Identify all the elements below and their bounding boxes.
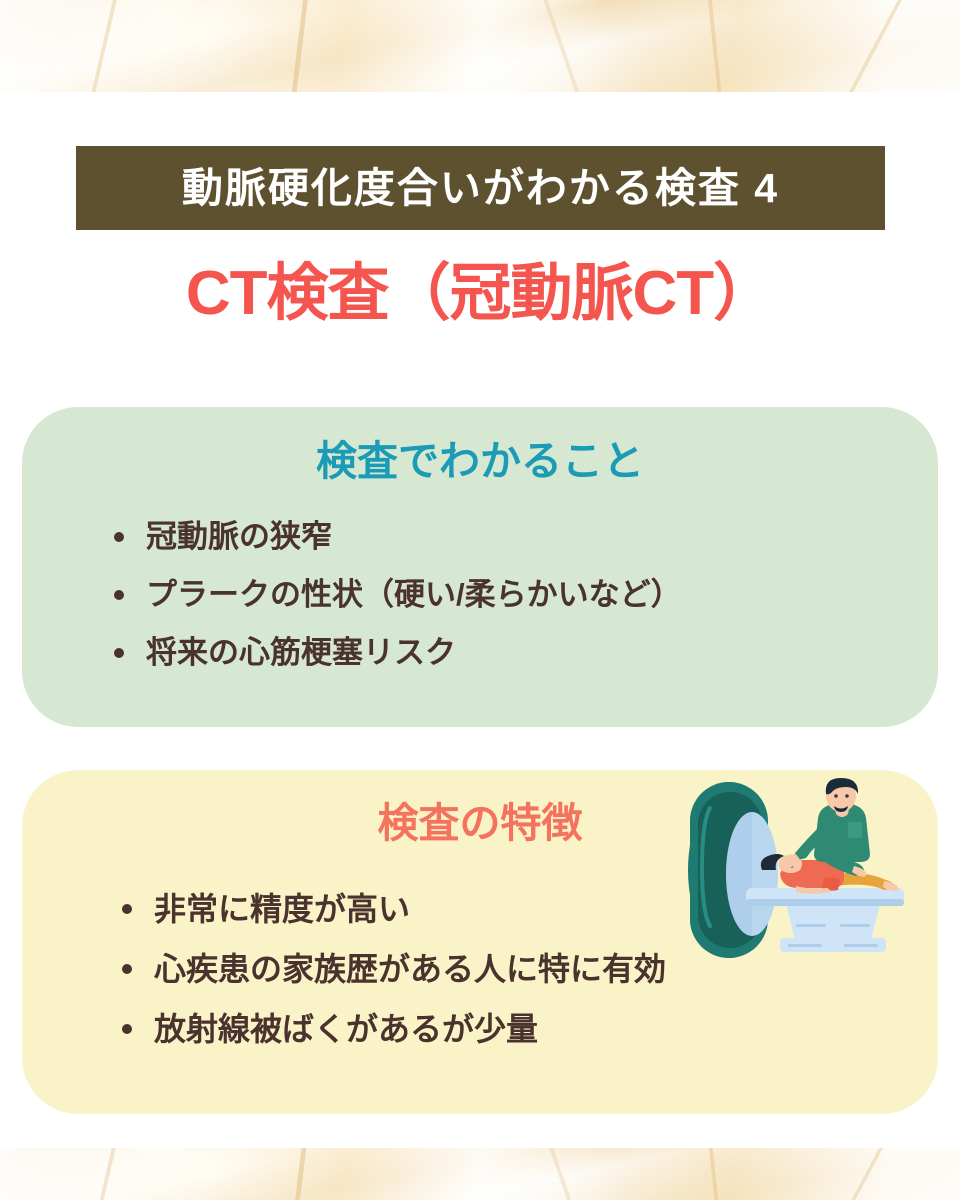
top-texture-band bbox=[0, 0, 960, 92]
page-title: CT検査（冠動脈CT） bbox=[0, 258, 960, 329]
list-item-label: 心疾患の家族歴がある人に特に有効 bbox=[154, 951, 666, 987]
findings-card-heading: 検査でわかること bbox=[22, 407, 938, 482]
bullet-dot-icon bbox=[114, 648, 124, 658]
bullet-dot-icon bbox=[122, 964, 132, 974]
list-item-label: 放射線被ばくがあるが少量 bbox=[154, 1011, 538, 1047]
bottom-texture-veins bbox=[0, 1148, 960, 1200]
technician-eye-left bbox=[834, 794, 838, 798]
ct-scanner-illustration bbox=[684, 778, 908, 962]
list-item-label: 冠動脈の狭窄 bbox=[146, 519, 332, 554]
section-banner: 動脈硬化度合いがわかる検査 4 bbox=[76, 146, 885, 230]
foot-line-2 bbox=[844, 944, 878, 947]
table-slab-shade bbox=[746, 899, 904, 906]
list-item: 冠動脈の狭窄 bbox=[114, 521, 938, 552]
pedestal-line-2 bbox=[840, 924, 870, 927]
findings-list: 冠動脈の狭窄 プラークの性状（硬い/柔らかいなど） 将来の心筋梗塞リスク bbox=[22, 521, 938, 668]
list-item: プラークの性状（硬い/柔らかいなど） bbox=[114, 579, 938, 610]
list-item-label: 将来の心筋梗塞リスク bbox=[146, 635, 456, 670]
list-item-label: 非常に精度が高い bbox=[154, 891, 410, 927]
list-item: 放射線被ばくがあるが少量 bbox=[122, 1013, 938, 1045]
list-item: 将来の心筋梗塞リスク bbox=[114, 637, 938, 668]
bullet-dot-icon bbox=[122, 904, 132, 914]
features-card: 検査の特徴 非常に精度が高い 心疾患の家族歴がある人に特に有効 放射線被ばくがあ… bbox=[22, 770, 938, 1114]
technician-pocket bbox=[848, 822, 862, 838]
foot-line-1 bbox=[788, 944, 822, 947]
bottom-texture-band bbox=[0, 1148, 960, 1200]
pedestal-line-1 bbox=[796, 924, 826, 927]
list-item-label: プラークの性状（硬い/柔らかいなど） bbox=[146, 577, 682, 612]
poster-page: 動脈硬化度合いがわかる検査 4 CT検査（冠動脈CT） 検査でわかること 冠動脈… bbox=[0, 0, 960, 1200]
technician-eye-right bbox=[845, 794, 849, 798]
bullet-dot-icon bbox=[114, 590, 124, 600]
findings-card: 検査でわかること 冠動脈の狭窄 プラークの性状（硬い/柔らかいなど） 将来の心筋… bbox=[22, 407, 938, 727]
top-texture-veins bbox=[0, 0, 960, 92]
banner-label: 動脈硬化度合いがわかる検査 4 bbox=[182, 168, 779, 209]
bullet-dot-icon bbox=[122, 1024, 132, 1034]
bullet-dot-icon bbox=[114, 532, 124, 542]
